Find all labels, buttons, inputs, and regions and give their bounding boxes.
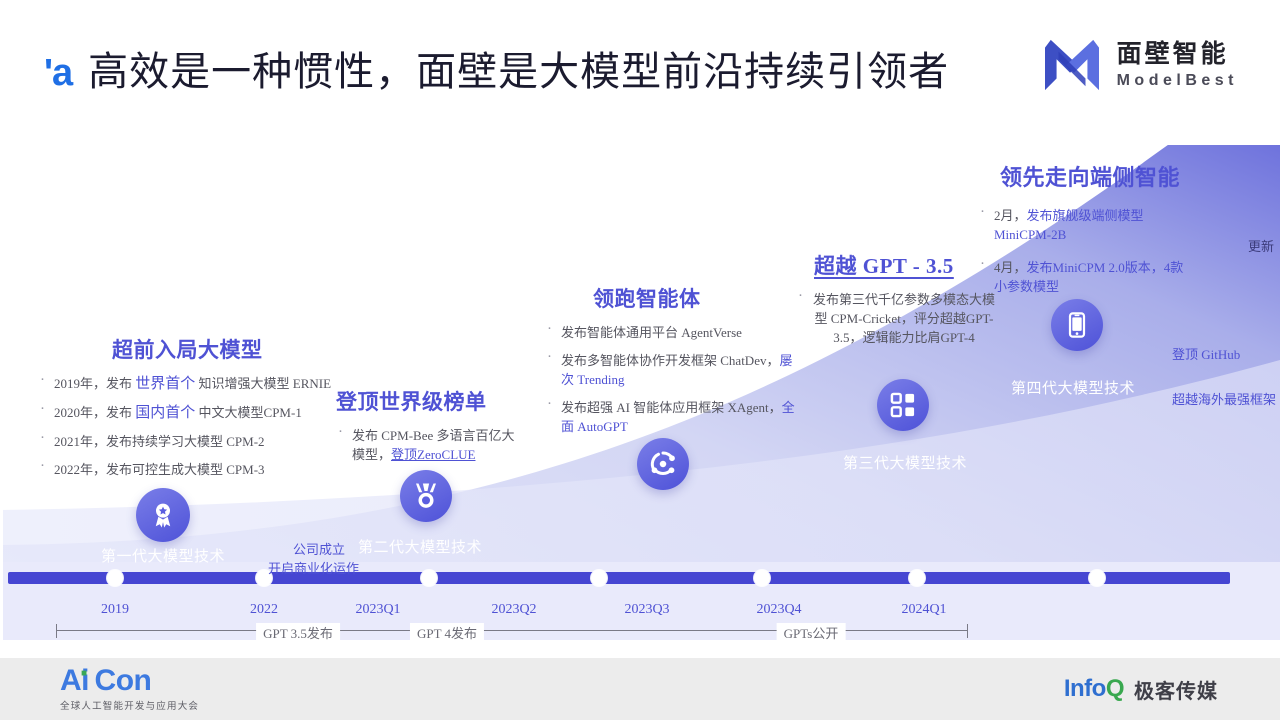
block-gen3-heading: 领跑智能体 bbox=[593, 283, 805, 313]
timeline-year-1: 2022 bbox=[250, 602, 278, 618]
block-gen3: 领跑智能体 发布智能体通用平台 AgentVerse 发布多智能体协作开发框架 … bbox=[545, 283, 805, 445]
award-ribbon-glyph bbox=[148, 500, 178, 530]
block-gen4-heading: 超越 GPT - 3.5 bbox=[814, 250, 996, 280]
modelbest-logo: 面壁智能 ModelBest bbox=[1041, 38, 1238, 92]
company-note-line1: 公司成立 bbox=[293, 539, 345, 558]
grid-blocks-glyph bbox=[889, 391, 917, 419]
timeline-dot-2023q3 bbox=[754, 570, 770, 586]
right-note-github: 登顶 GitHub bbox=[1172, 344, 1240, 363]
page-title: 'a 高效是一种惯性，面壁是大模型前沿持续引领者 bbox=[44, 52, 949, 92]
smartphone-icon bbox=[1051, 299, 1103, 351]
list-item: 发布 CPM-Bee 多语言百亿大模型，登顶ZeroCLUE bbox=[336, 426, 526, 464]
list-item: 发布超强 AI 智能体应用框架 XAgent，全面 AutoGPT bbox=[545, 398, 805, 436]
block-gen1: 超前入局大模型 2019年，发布 世界首个 知识增强大模型 ERNIE 2020… bbox=[38, 334, 368, 488]
event-axis-cap-left bbox=[56, 624, 57, 638]
timeline-dot-2024q1 bbox=[1089, 570, 1105, 586]
timeline-year-5: 2023Q4 bbox=[756, 602, 801, 618]
infoq-cn-text: 极客传媒 bbox=[1134, 675, 1218, 704]
event-axis-cap-right bbox=[967, 624, 968, 638]
infoq-logo: InfoQ 极客传媒 bbox=[1064, 675, 1218, 704]
aicon-logo-text: Ai■Con bbox=[60, 666, 199, 696]
agent-network-glyph bbox=[648, 449, 678, 479]
aicon-logo: Ai■Con 全球人工智能开发与应用大会 bbox=[60, 666, 199, 712]
slide-footer: Ai■Con 全球人工智能开发与应用大会 InfoQ 极客传媒 bbox=[0, 658, 1280, 720]
timeline-dot-2023q1 bbox=[421, 570, 437, 586]
list-item: 2019年，发布 世界首个 知识增强大模型 ERNIE bbox=[38, 374, 368, 394]
title-text: 高效是一种惯性，面壁是大模型前沿持续引领者 bbox=[88, 52, 949, 92]
medal-icon bbox=[400, 470, 452, 522]
gen-label-4: 第四代大模型技术 bbox=[1011, 377, 1135, 398]
logo-cn-text: 面壁智能 bbox=[1117, 42, 1238, 67]
block-gen2-heading: 登顶世界级榜单 bbox=[336, 386, 526, 416]
timeline-year-4: 2023Q3 bbox=[624, 602, 669, 618]
timeline-year-6: 2024Q1 bbox=[901, 602, 946, 618]
list-item: 4月，发布MiniCPM 2.0版本，4款小参数模型 bbox=[978, 258, 1193, 296]
block-gen5: 领先走向端侧智能 2月，发布旗舰级端侧模型 MiniCPM-2B 4月，发布Mi… bbox=[978, 160, 1193, 305]
gen-label-2: 第二代大模型技术 bbox=[358, 536, 482, 557]
aicon-subtitle: 全球人工智能开发与应用大会 bbox=[60, 702, 199, 712]
company-note-line2: 开启商业化运作 bbox=[268, 558, 359, 577]
gen-label-1: 第一代大模型技术 bbox=[101, 545, 225, 566]
medal-glyph bbox=[411, 481, 441, 511]
slide-header: 'a 高效是一种惯性，面壁是大模型前沿持续引领者 面壁智能 ModelBest bbox=[0, 0, 1280, 145]
infoq-logo-text: InfoQ bbox=[1064, 675, 1124, 703]
list-item: 2020年，发布 国内首个 中文大模型CPM-1 bbox=[38, 403, 368, 423]
timeline-year-2: 2023Q1 bbox=[355, 602, 400, 618]
list-item: 2月，发布旗舰级端侧模型 MiniCPM-2B bbox=[978, 206, 1193, 244]
award-ribbon-icon bbox=[136, 488, 190, 542]
event-label-2: GPTs公开 bbox=[777, 623, 846, 642]
timeline-dot-2023q2 bbox=[591, 570, 607, 586]
block-gen2: 登顶世界级榜单 发布 CPM-Bee 多语言百亿大模型，登顶ZeroCLUE bbox=[336, 386, 526, 473]
smartphone-glyph bbox=[1063, 311, 1091, 339]
slide-root: 'a 高效是一种惯性，面壁是大模型前沿持续引领者 面壁智能 ModelBest … bbox=[0, 0, 1280, 720]
agent-network-icon bbox=[637, 438, 689, 490]
block-gen4: 超越 GPT - 3.5 发布第三代千亿参数多模态大模型 CPM-Cricket… bbox=[796, 250, 996, 356]
timeline-year-0: 2019 bbox=[101, 602, 129, 618]
block-gen4-list: 发布第三代千亿参数多模态大模型 CPM-Cricket，评分超越GPT-3.5，… bbox=[796, 290, 996, 347]
list-item: 2022年，发布可控生成大模型 CPM-3 bbox=[38, 460, 368, 479]
modelbest-m-logo-icon bbox=[1041, 38, 1103, 92]
list-item: 发布多智能体协作开发框架 ChatDev，屡次 Trending bbox=[545, 351, 805, 389]
block-gen3-list: 发布智能体通用平台 AgentVerse 发布多智能体协作开发框架 ChatDe… bbox=[545, 323, 805, 436]
block-gen5-heading: 领先走向端侧智能 bbox=[1000, 160, 1193, 192]
event-label-0: GPT 3.5发布 bbox=[256, 623, 340, 642]
timeline-bar bbox=[8, 572, 1230, 584]
timeline-dot-2019 bbox=[107, 570, 123, 586]
timeline-year-3: 2023Q2 bbox=[491, 602, 536, 618]
left-edge-strip bbox=[0, 0, 3, 658]
logo-en-text: ModelBest bbox=[1117, 73, 1238, 89]
grid-blocks-icon bbox=[877, 379, 929, 431]
title-quote-mark: 'a bbox=[44, 54, 72, 92]
event-label-1: GPT 4发布 bbox=[410, 623, 484, 642]
block-gen1-list: 2019年，发布 世界首个 知识增强大模型 ERNIE 2020年，发布 国内首… bbox=[38, 374, 368, 479]
edge-note: 更新 bbox=[1248, 236, 1274, 255]
list-item: 发布智能体通用平台 AgentVerse bbox=[545, 323, 805, 342]
right-note-framework: 超越海外最强框架 bbox=[1172, 389, 1276, 408]
list-item: 2021年，发布持续学习大模型 CPM-2 bbox=[38, 432, 368, 451]
block-gen5-list: 2月，发布旗舰级端侧模型 MiniCPM-2B 4月，发布MiniCPM 2.0… bbox=[978, 206, 1193, 296]
timeline-dot-2023q4 bbox=[909, 570, 925, 586]
gen-label-3: 第三代大模型技术 bbox=[843, 452, 967, 473]
block-gen2-list: 发布 CPM-Bee 多语言百亿大模型，登顶ZeroCLUE bbox=[336, 426, 526, 464]
list-item: 发布第三代千亿参数多模态大模型 CPM-Cricket，评分超越GPT-3.5，… bbox=[796, 290, 996, 347]
block-gen1-heading: 超前入局大模型 bbox=[112, 334, 368, 364]
